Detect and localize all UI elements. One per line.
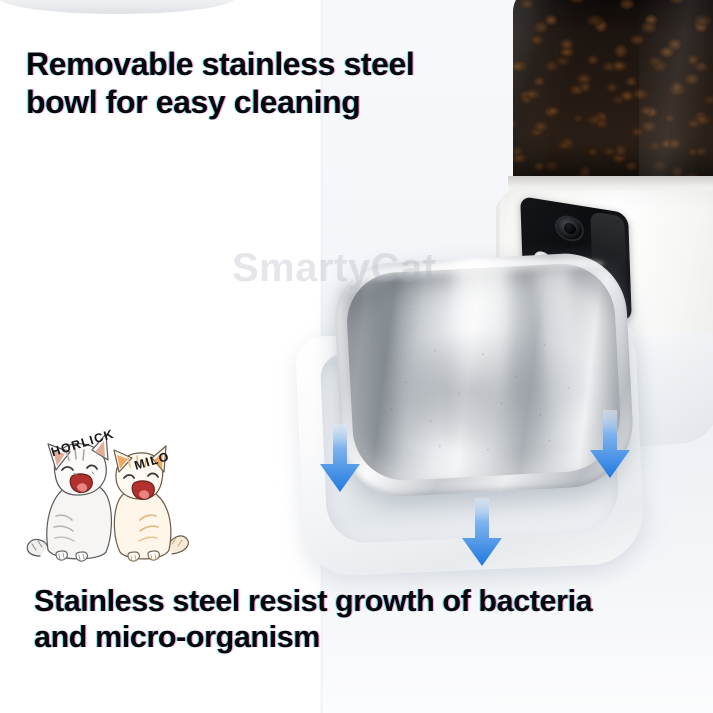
arrow-center-icon (460, 498, 504, 568)
camera-lens-icon (557, 216, 583, 241)
arrow-left-icon (318, 424, 362, 494)
cat-mascot-illustration: HORLICK MILO (22, 428, 200, 576)
headline-bottom: Stainless steel resist growth of bacteri… (34, 584, 644, 656)
camera-lens-aperture (564, 222, 576, 235)
product-image-canvas: ⏻ ↻ • (0, 0, 713, 713)
headline-top: Removable stainless steel bowl for easy … (26, 46, 426, 122)
food-hopper (513, 0, 713, 191)
cat-mascot-svg (22, 428, 200, 576)
arrow-right-icon (588, 410, 632, 480)
hopper-sheen (639, 0, 713, 191)
